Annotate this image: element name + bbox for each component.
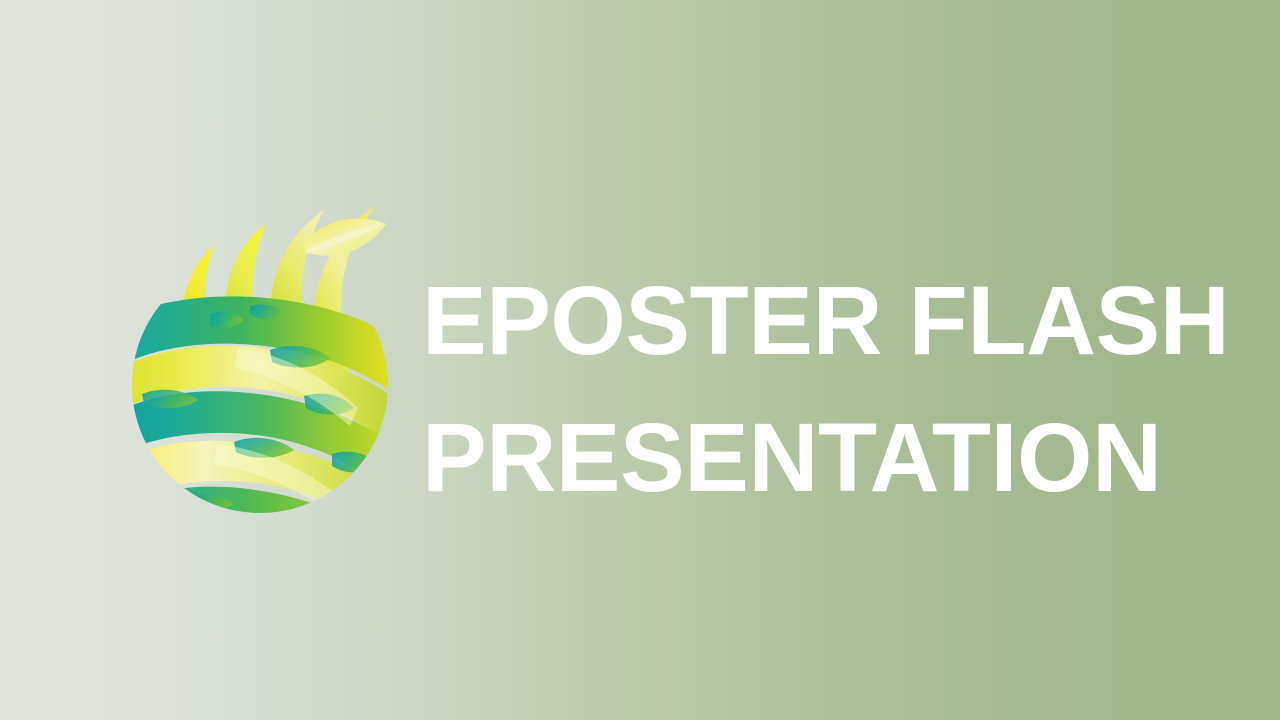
title-slide: EPOSTER FLASH PRESENTATION [0,0,1280,720]
slide-title: EPOSTER FLASH PRESENTATION [422,252,1222,526]
title-line-2: PRESENTATION [422,389,1222,526]
title-line-1: EPOSTER FLASH [422,252,1222,389]
globe-ribbon-logo [118,198,402,516]
logo-globe-bands [118,296,402,516]
